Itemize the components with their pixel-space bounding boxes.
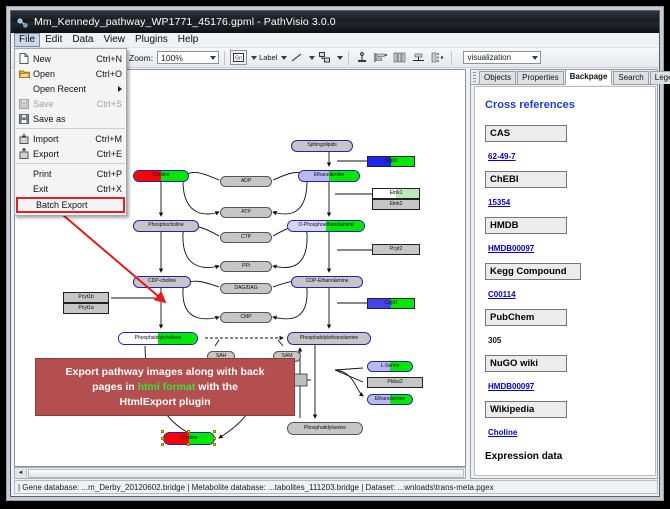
selection-handle[interactable] — [187, 430, 190, 433]
node-label: Choline — [153, 173, 170, 178]
menu-item-new-accel: Ctrl+N — [96, 54, 126, 64]
node-label: CDP-Ethanolamine — [306, 279, 349, 284]
callout-line2-pre: pages in — [92, 381, 138, 393]
menu-item-open-recent-label: Open Recent — [31, 84, 126, 94]
menu-item-open[interactable]: Open Ctrl+O — [15, 66, 126, 81]
line-tool-button[interactable] — [289, 50, 305, 65]
menubar[interactable]: File Edit Data View Plugins Help — [11, 33, 659, 48]
annotation-callout: Export pathway images along with back pa… — [35, 358, 295, 416]
menu-item-exit[interactable]: Exit Ctrl+X — [15, 181, 126, 196]
toolbar-separator-2 — [348, 51, 349, 65]
xref-source-wikipedia: Wikipedia — [485, 401, 567, 418]
menu-item-exit-label: Exit — [31, 184, 97, 194]
scroll-thumb[interactable] — [28, 469, 464, 478]
xref-source-cas: CAS — [485, 125, 567, 142]
xref-value-pubchem: 305 — [488, 336, 501, 345]
menu-item-new[interactable]: New Ctrl+N — [15, 51, 126, 66]
tab-legend[interactable]: Legend — [650, 71, 670, 84]
node-label: Pcyt1b — [78, 295, 93, 300]
menu-item-new-label: New — [31, 54, 96, 64]
menu-item-import-label: Import — [31, 134, 95, 144]
tab-objects[interactable]: Objects — [479, 71, 516, 84]
node-label: Pcyt2 — [390, 247, 402, 252]
menu-item-import-accel: Ctrl+M — [95, 134, 126, 144]
pathvisio-window: Mm_Kennedy_pathway_WP1771_45176.gpml - P… — [10, 10, 660, 497]
menu-item-open-label: Open — [31, 69, 96, 79]
menu-item-print-label: Print — [31, 169, 97, 179]
label-tool-button[interactable]: Label — [259, 53, 277, 62]
selection-handle[interactable] — [213, 430, 216, 433]
menu-edit[interactable]: Edit — [40, 33, 67, 47]
align-left-tool-button[interactable] — [372, 50, 389, 65]
chevron-down-icon — [210, 56, 216, 60]
visualization-combobox[interactable]: visualization — [463, 51, 541, 64]
zoom-combobox[interactable]: 100% — [157, 51, 219, 64]
export-icon — [17, 148, 31, 160]
node-label: CMP — [240, 315, 251, 320]
xref-value-hmdb[interactable]: HMDB00097 — [488, 244, 534, 253]
shape-dropdown-icon[interactable] — [337, 56, 343, 60]
xref-source-hmdb: HMDB — [485, 217, 567, 234]
menu-item-save-as-label: Save as — [31, 114, 126, 124]
svg-text:Gn: Gn — [235, 56, 242, 62]
callout-line2-post: with the — [195, 381, 238, 393]
menu-view[interactable]: View — [98, 33, 130, 47]
menu-item-print-accel: Ctrl+P — [97, 169, 126, 179]
menu-item-batch-export-label: Batch Export — [34, 200, 123, 210]
scroll-left-button[interactable]: ◄ — [15, 468, 27, 478]
pathvisio-icon — [17, 17, 28, 28]
open-folder-icon — [17, 68, 31, 80]
node-label: Etnk1 — [390, 191, 403, 196]
menu-item-save[interactable]: Save Ctrl+S — [15, 96, 126, 111]
menu-item-exit-accel: Ctrl+X — [97, 184, 126, 194]
tab-properties[interactable]: Properties — [517, 71, 563, 84]
align-center-tool-button[interactable] — [391, 50, 408, 65]
node-label: Phosphatidylethanolamine — [300, 336, 358, 341]
xref-source-chebi: ChEBI — [485, 171, 567, 188]
distribute-tool-button[interactable] — [410, 50, 427, 65]
toolbar-separator-3 — [451, 51, 452, 65]
expression-data-heading: Expression data — [485, 451, 645, 462]
node-label: Phosphatidylserine — [304, 426, 346, 431]
statusbar: | Gene database: ...m_Derby_20120602.bri… — [14, 480, 658, 494]
selection-handle[interactable] — [213, 437, 216, 440]
blank-icon — [17, 83, 31, 95]
node-label: DAG/DAG — [234, 286, 257, 291]
panel-drag-grip[interactable] — [473, 72, 476, 82]
side-panel-tabstrip[interactable]: Objects Properties Backpage Search Legen… — [471, 70, 657, 85]
node-label: ADP — [241, 179, 251, 184]
xref-value-wikipedia[interactable]: Choline — [488, 428, 517, 437]
blank-icon-3 — [17, 183, 31, 195]
datanode-dropdown-icon[interactable] — [251, 56, 257, 60]
node-label: Etnk2 — [390, 202, 403, 207]
anchor-tool-button[interactable] — [354, 50, 370, 65]
menu-item-open-recent[interactable]: Open Recent — [15, 81, 126, 96]
submenu-arrow-icon — [118, 86, 122, 92]
menu-item-batch-export[interactable]: Batch Export — [16, 197, 125, 213]
callout-line1: Export pathway images along with back — [66, 366, 265, 378]
menu-item-open-accel: Ctrl+O — [96, 69, 126, 79]
tab-backpage[interactable]: Backpage — [565, 69, 613, 85]
node-label: ATP — [241, 210, 250, 215]
save-icon — [17, 98, 31, 110]
menu-plugins[interactable]: Plugins — [130, 33, 173, 47]
zoom-value: 100% — [161, 53, 183, 63]
menu-item-save-accel: Ctrl+S — [97, 99, 126, 109]
selection-handle[interactable] — [161, 437, 164, 440]
node-label: Ethanolamine — [314, 173, 345, 178]
xref-value-chebi[interactable]: 15354 — [488, 198, 510, 207]
node-label: Cept1 — [384, 301, 397, 306]
cross-references-heading: Cross references — [485, 99, 645, 111]
selection-handle[interactable] — [161, 443, 164, 446]
menu-file[interactable]: File — [14, 33, 40, 47]
callout-highlight: html format — [138, 381, 196, 393]
window-title: Mm_Kennedy_pathway_WP1771_45176.gpml - P… — [34, 16, 336, 28]
menu-help[interactable]: Help — [173, 33, 204, 47]
menu-item-export[interactable]: Export Ctrl+E — [15, 146, 126, 161]
xref-value-kegg[interactable]: C00114 — [488, 290, 516, 299]
node-label: Choline — [181, 436, 198, 441]
datanode-tool-button[interactable]: Gn — [230, 50, 247, 65]
label-dropdown-icon[interactable] — [281, 56, 287, 60]
menu-divider-2 — [16, 163, 125, 164]
new-file-icon — [17, 53, 31, 65]
shape-tool-button[interactable] — [317, 50, 333, 65]
zoom-label: Zoom: — [129, 53, 153, 63]
blank-icon-2 — [17, 168, 31, 180]
callout-line3: HtmlExport plugin — [120, 396, 211, 408]
visualization-value: visualization — [467, 53, 511, 62]
toolbar-separator — [224, 51, 225, 65]
node-label: Sgpl1 — [385, 159, 398, 164]
screenshot-frame: Mm_Kennedy_pathway_WP1771_45176.gpml - P… — [0, 0, 670, 509]
menu-divider-1 — [16, 128, 125, 129]
xref-source-kegg: Kegg Compound — [485, 263, 581, 280]
menu-item-export-accel: Ctrl+E — [97, 149, 126, 159]
line-dropdown-icon[interactable] — [309, 56, 315, 60]
selection-handle[interactable] — [187, 443, 190, 446]
menu-item-export-label: Export — [31, 149, 97, 159]
node-label: O-Phosphoethanolamine — [298, 223, 353, 228]
selection-handle[interactable] — [213, 443, 216, 446]
side-panel: Objects Properties Backpage Search Legen… — [470, 69, 658, 479]
menu-item-save-label: Save — [31, 99, 97, 109]
save-as-icon — [17, 113, 31, 125]
node-label: Pcyt1a — [78, 306, 93, 311]
xref-value-nugo[interactable]: HMDB00097 — [488, 382, 534, 391]
node-label: Phosphocholine — [148, 223, 184, 228]
group-tool-button[interactable] — [429, 50, 446, 65]
xref-source-nugo: NuGO wiki — [485, 355, 567, 372]
node-label: Phosphatidylcholines — [135, 336, 182, 341]
backpage-content: Cross references CAS 62-49-7 ChEBI 15354… — [474, 86, 656, 476]
node-label: Ethanolamine — [375, 397, 406, 402]
xref-value-cas[interactable]: 62-49-7 — [488, 152, 516, 161]
xref-source-pubchem: PubChem — [485, 309, 567, 326]
menu-item-save-as[interactable]: Save as — [15, 111, 126, 126]
node-label: Sphingolipids — [307, 143, 337, 148]
menu-item-print[interactable]: Print Ctrl+P — [15, 166, 126, 181]
import-icon — [17, 133, 31, 145]
node-label: CTP — [241, 235, 251, 240]
tab-search[interactable]: Search — [613, 71, 648, 84]
canvas-hscrollbar[interactable]: ◄ — [14, 467, 466, 479]
chevron-down-icon-2 — [532, 56, 538, 60]
menu-data[interactable]: Data — [67, 33, 98, 47]
node-label: PPi — [242, 264, 250, 269]
menu-item-import[interactable]: Import Ctrl+M — [15, 131, 126, 146]
node-label: L-Serine — [381, 364, 400, 369]
file-menu-dropdown[interactable]: New Ctrl+N Open Ctrl+O Open Recent Save — [14, 48, 127, 216]
selection-handle[interactable] — [161, 430, 164, 433]
node-label: Ptdss2 — [387, 380, 402, 385]
blank-icon-4 — [20, 199, 34, 211]
node-label: CDP-choline — [148, 279, 176, 284]
window-titlebar: Mm_Kennedy_pathway_WP1771_45176.gpml - P… — [11, 11, 659, 33]
